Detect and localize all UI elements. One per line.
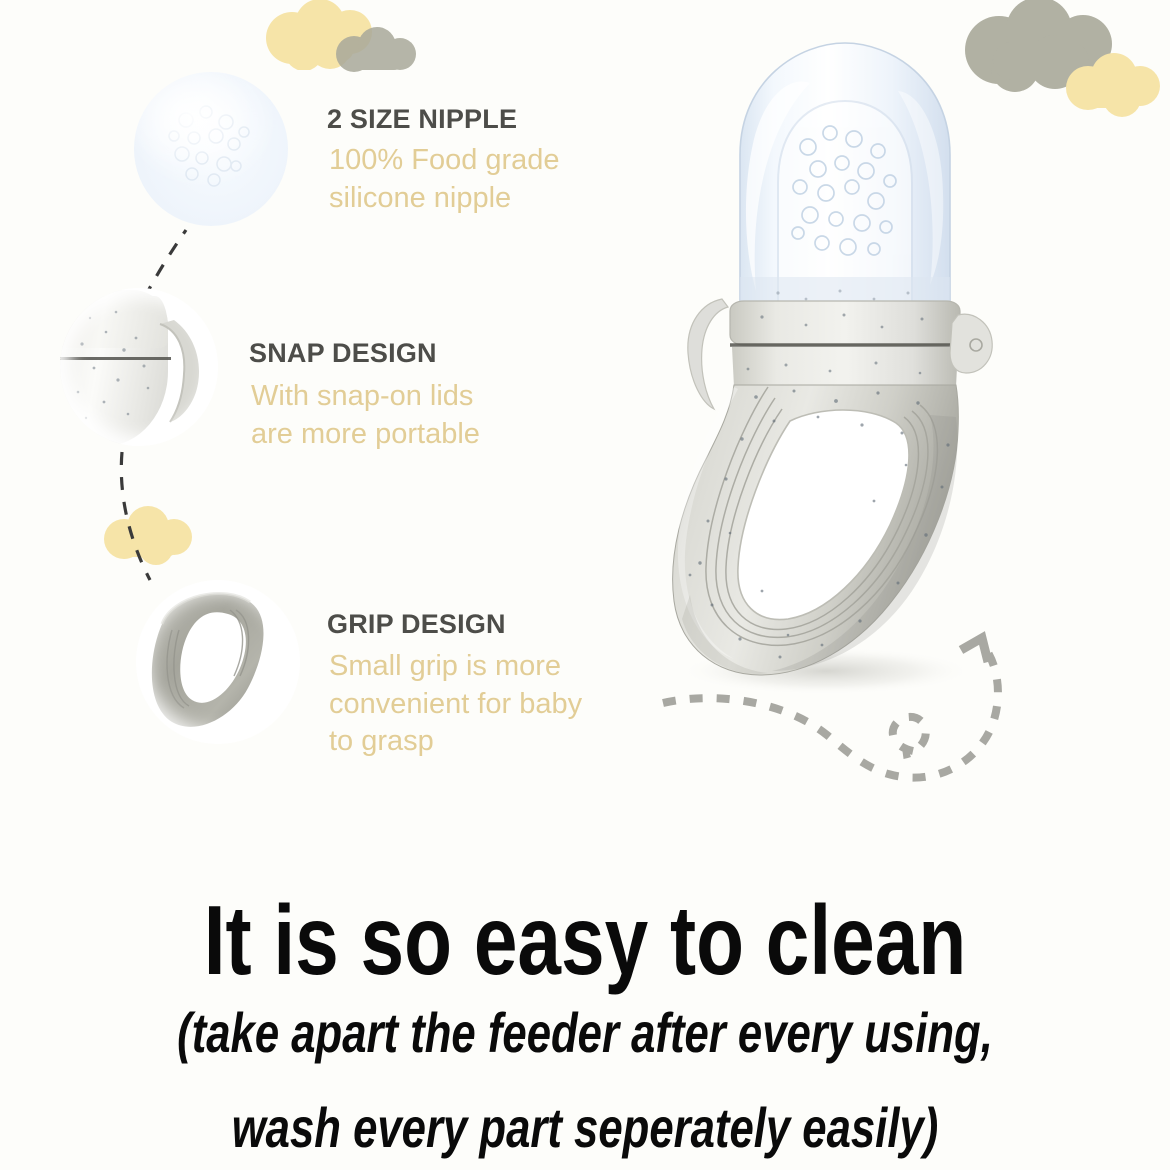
cloud-top-right-yellow <box>1060 48 1170 118</box>
footer-headline: It is so easy to clean <box>117 884 1053 997</box>
feature-body-line: are more portable <box>251 416 480 454</box>
footer-subline-1: (take apart the feeder after every using… <box>129 1000 1042 1065</box>
feature-body-line: 100% Food grade <box>329 142 560 180</box>
feature-body-nipple: 100% Food grade silicone nipple <box>329 142 560 217</box>
snap-knob-right <box>950 314 992 373</box>
feature-body-snap: With snap-on lids are more portable <box>251 378 480 453</box>
cloud-top-left-grey <box>330 26 422 76</box>
silicone-nipple <box>740 43 952 309</box>
snap-hook-left <box>688 299 728 409</box>
silicone-handle-body <box>673 385 959 675</box>
feature-body-line: convenient for baby <box>329 686 582 724</box>
grip-closeup-thumbnail <box>136 580 300 744</box>
feature-body-line: silicone nipple <box>329 180 560 218</box>
snap-closeup-thumbnail <box>60 288 218 446</box>
footer-subline-2: wash every part seperately easily) <box>129 1095 1042 1160</box>
cloud-mid-left-yellow <box>98 503 203 565</box>
feature-body-line: With snap-on lids <box>251 378 480 416</box>
product-photo-fruit-feeder <box>630 35 1060 695</box>
feature-body-line: to grasp <box>329 723 582 761</box>
feature-body-grip: Small grip is more convenient for baby t… <box>329 648 582 761</box>
feature-title-grip: GRIP DESIGN <box>327 609 506 640</box>
nipple-closeup-thumbnail <box>134 72 288 226</box>
feature-body-line: Small grip is more <box>329 648 582 686</box>
feature-title-snap: SNAP DESIGN <box>249 338 437 369</box>
infographic-canvas: 2 SIZE NIPPLE 100% Food grade silicone n… <box>0 0 1170 1170</box>
feature-title-nipple: 2 SIZE NIPPLE <box>327 104 517 135</box>
